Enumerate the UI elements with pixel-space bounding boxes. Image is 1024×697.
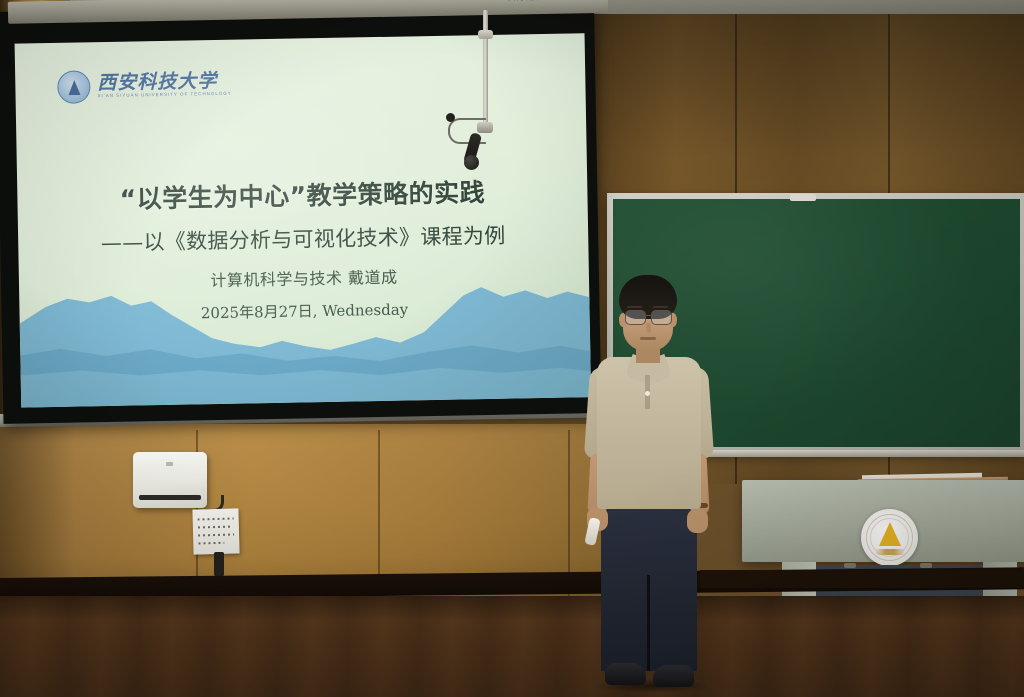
lectern-latch[interactable] bbox=[844, 563, 856, 568]
microphone-arm-tip bbox=[446, 113, 455, 122]
presenter-eyebrow-right bbox=[653, 306, 668, 308]
microphone-joint bbox=[477, 122, 493, 133]
presenter bbox=[575, 275, 725, 697]
wall-access-point bbox=[133, 452, 207, 508]
presenter-mouth bbox=[640, 337, 656, 340]
slide-title: “以学生为中心”教学策略的实践 bbox=[17, 171, 588, 217]
microphone-pole bbox=[483, 10, 488, 132]
presenter-shoe-right bbox=[653, 665, 694, 687]
glasses-lens-right bbox=[651, 310, 672, 325]
microphone-collar bbox=[478, 30, 493, 39]
sign-text-line bbox=[198, 534, 234, 537]
emblem-base-mark bbox=[875, 549, 905, 555]
sign-text-line bbox=[198, 542, 224, 545]
projection-screen[interactable]: 西安科技大学 XI'AN SIYUAN UNIVERSITY OF TECHNO… bbox=[0, 1, 601, 424]
logo-text-block: 西安科技大学 XI'AN SIYUAN UNIVERSITY OF TECHNO… bbox=[97, 72, 232, 99]
slide-surface[interactable]: 西安科技大学 XI'AN SIYUAN UNIVERSITY OF TECHNO… bbox=[15, 33, 592, 407]
university-seal-icon bbox=[57, 70, 91, 104]
stage-floor bbox=[0, 596, 1024, 697]
device-vent bbox=[139, 495, 201, 500]
sign-text-line bbox=[198, 526, 231, 529]
classroom-scene: 西安科技大学 XI'AN SIYUAN UNIVERSITY OF TECHNO… bbox=[0, 0, 1024, 697]
wall-paper-sign bbox=[192, 508, 239, 554]
slide-subtitle: ——以《数据分析与可视化技术》课程为例 bbox=[18, 218, 588, 258]
chalkboard-clip bbox=[790, 194, 816, 201]
slide-logo: 西安科技大学 XI'AN SIYUAN UNIVERSITY OF TECHNO… bbox=[57, 68, 232, 104]
microphone-capsule bbox=[464, 155, 479, 170]
lectern-emblem bbox=[861, 509, 918, 566]
sign-text-line bbox=[198, 518, 234, 521]
emblem-triangle-icon bbox=[879, 522, 901, 546]
baseboard bbox=[700, 570, 1024, 588]
glasses-lens-left bbox=[625, 310, 646, 325]
logo-chinese-name: 西安科技大学 bbox=[97, 72, 232, 93]
shirt-button bbox=[645, 391, 650, 396]
presenter-eyebrow-left bbox=[627, 306, 642, 308]
presenter-hand-right bbox=[687, 509, 708, 533]
sign-cord bbox=[214, 552, 224, 576]
trouser-seam bbox=[647, 575, 650, 671]
roller-label: PROJECTOR bbox=[508, 0, 558, 3]
presenter-shoe-left bbox=[605, 663, 646, 685]
presenter-nose bbox=[646, 323, 651, 333]
glasses-bridge bbox=[644, 315, 651, 316]
device-logo-icon bbox=[166, 462, 173, 466]
lectern-front-panel bbox=[742, 480, 1024, 562]
